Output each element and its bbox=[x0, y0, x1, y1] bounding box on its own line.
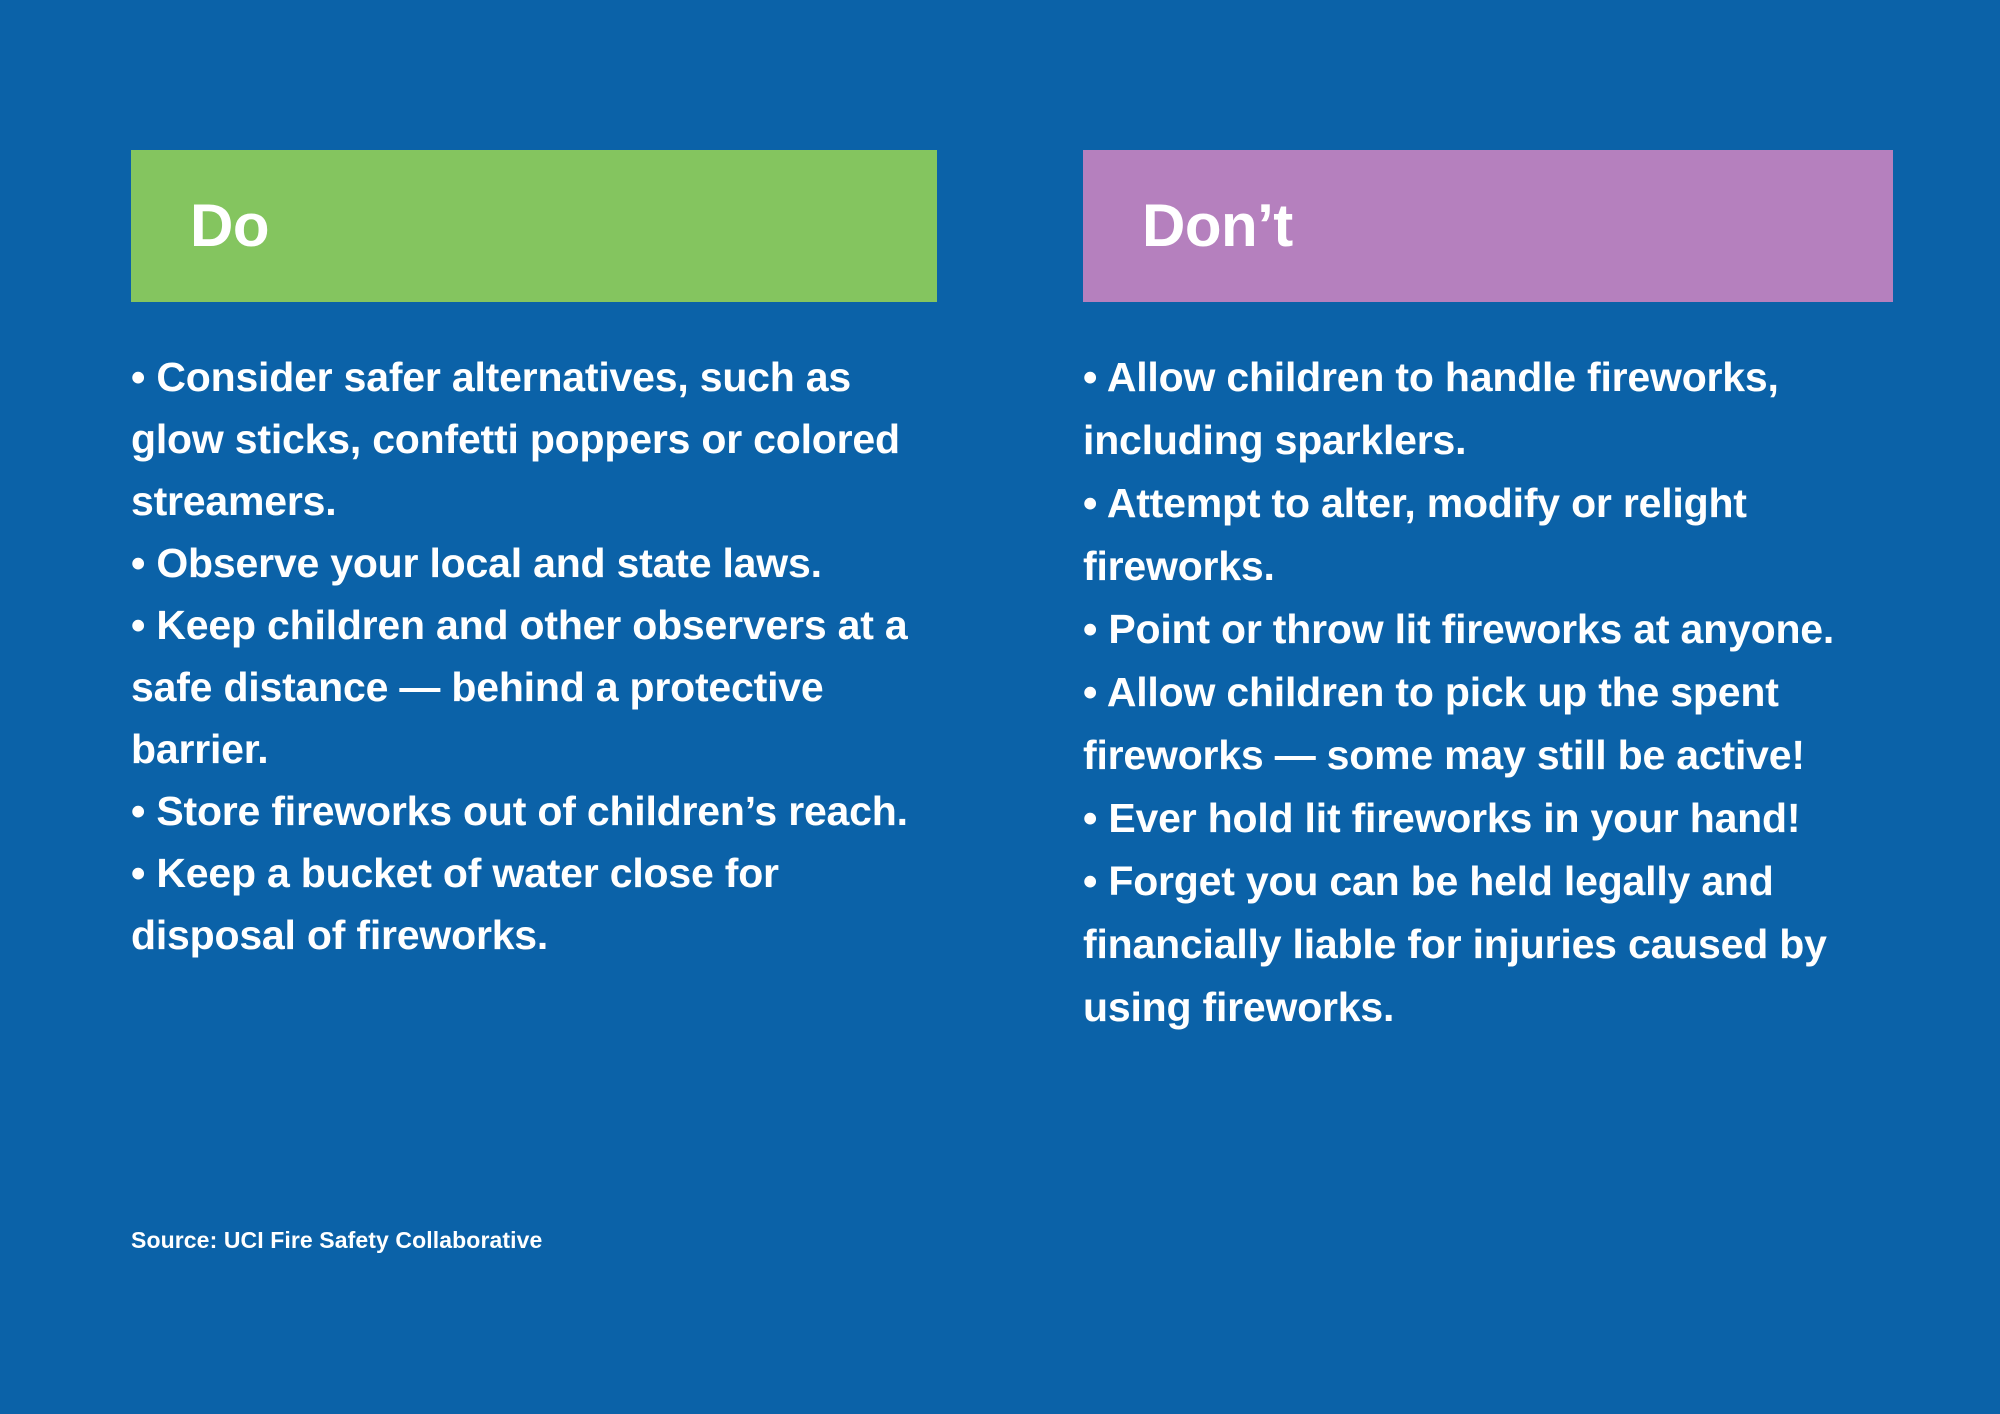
dont-heading: Don’t bbox=[1142, 196, 1293, 256]
list-item: • Point or throw lit fireworks at anyone… bbox=[1083, 598, 1893, 661]
list-item: • Forget you can be held legally and fin… bbox=[1083, 850, 1893, 1039]
list-item: • Allow children to pick up the spent fi… bbox=[1083, 661, 1893, 787]
dont-bullet-list: • Allow children to handle fireworks, in… bbox=[1083, 346, 1893, 1039]
dont-header-band: Don’t bbox=[1083, 150, 1893, 302]
do-bullet-list: • Consider safer alternatives, such as g… bbox=[131, 346, 937, 966]
source-credit: Source: UCI Fire Safety Collaborative bbox=[131, 1227, 542, 1254]
two-column-layout: Do • Consider safer alternatives, such a… bbox=[0, 0, 2000, 1414]
infographic-canvas: Do • Consider safer alternatives, such a… bbox=[0, 0, 2000, 1414]
do-heading: Do bbox=[190, 196, 269, 256]
list-item: • Observe your local and state laws. bbox=[131, 532, 937, 594]
do-column: Do • Consider safer alternatives, such a… bbox=[131, 0, 937, 1414]
list-item: • Store fireworks out of children’s reac… bbox=[131, 780, 937, 842]
list-item: • Attempt to alter, modify or relight fi… bbox=[1083, 472, 1893, 598]
list-item: • Ever hold lit fireworks in your hand! bbox=[1083, 787, 1893, 850]
dont-column: Don’t • Allow children to handle firewor… bbox=[1083, 0, 1893, 1414]
list-item: • Allow children to handle fireworks, in… bbox=[1083, 346, 1893, 472]
list-item: • Keep children and other observers at a… bbox=[131, 594, 937, 780]
list-item: • Consider safer alternatives, such as g… bbox=[131, 346, 937, 532]
do-header-band: Do bbox=[131, 150, 937, 302]
list-item: • Keep a bucket of water close for dispo… bbox=[131, 842, 937, 966]
